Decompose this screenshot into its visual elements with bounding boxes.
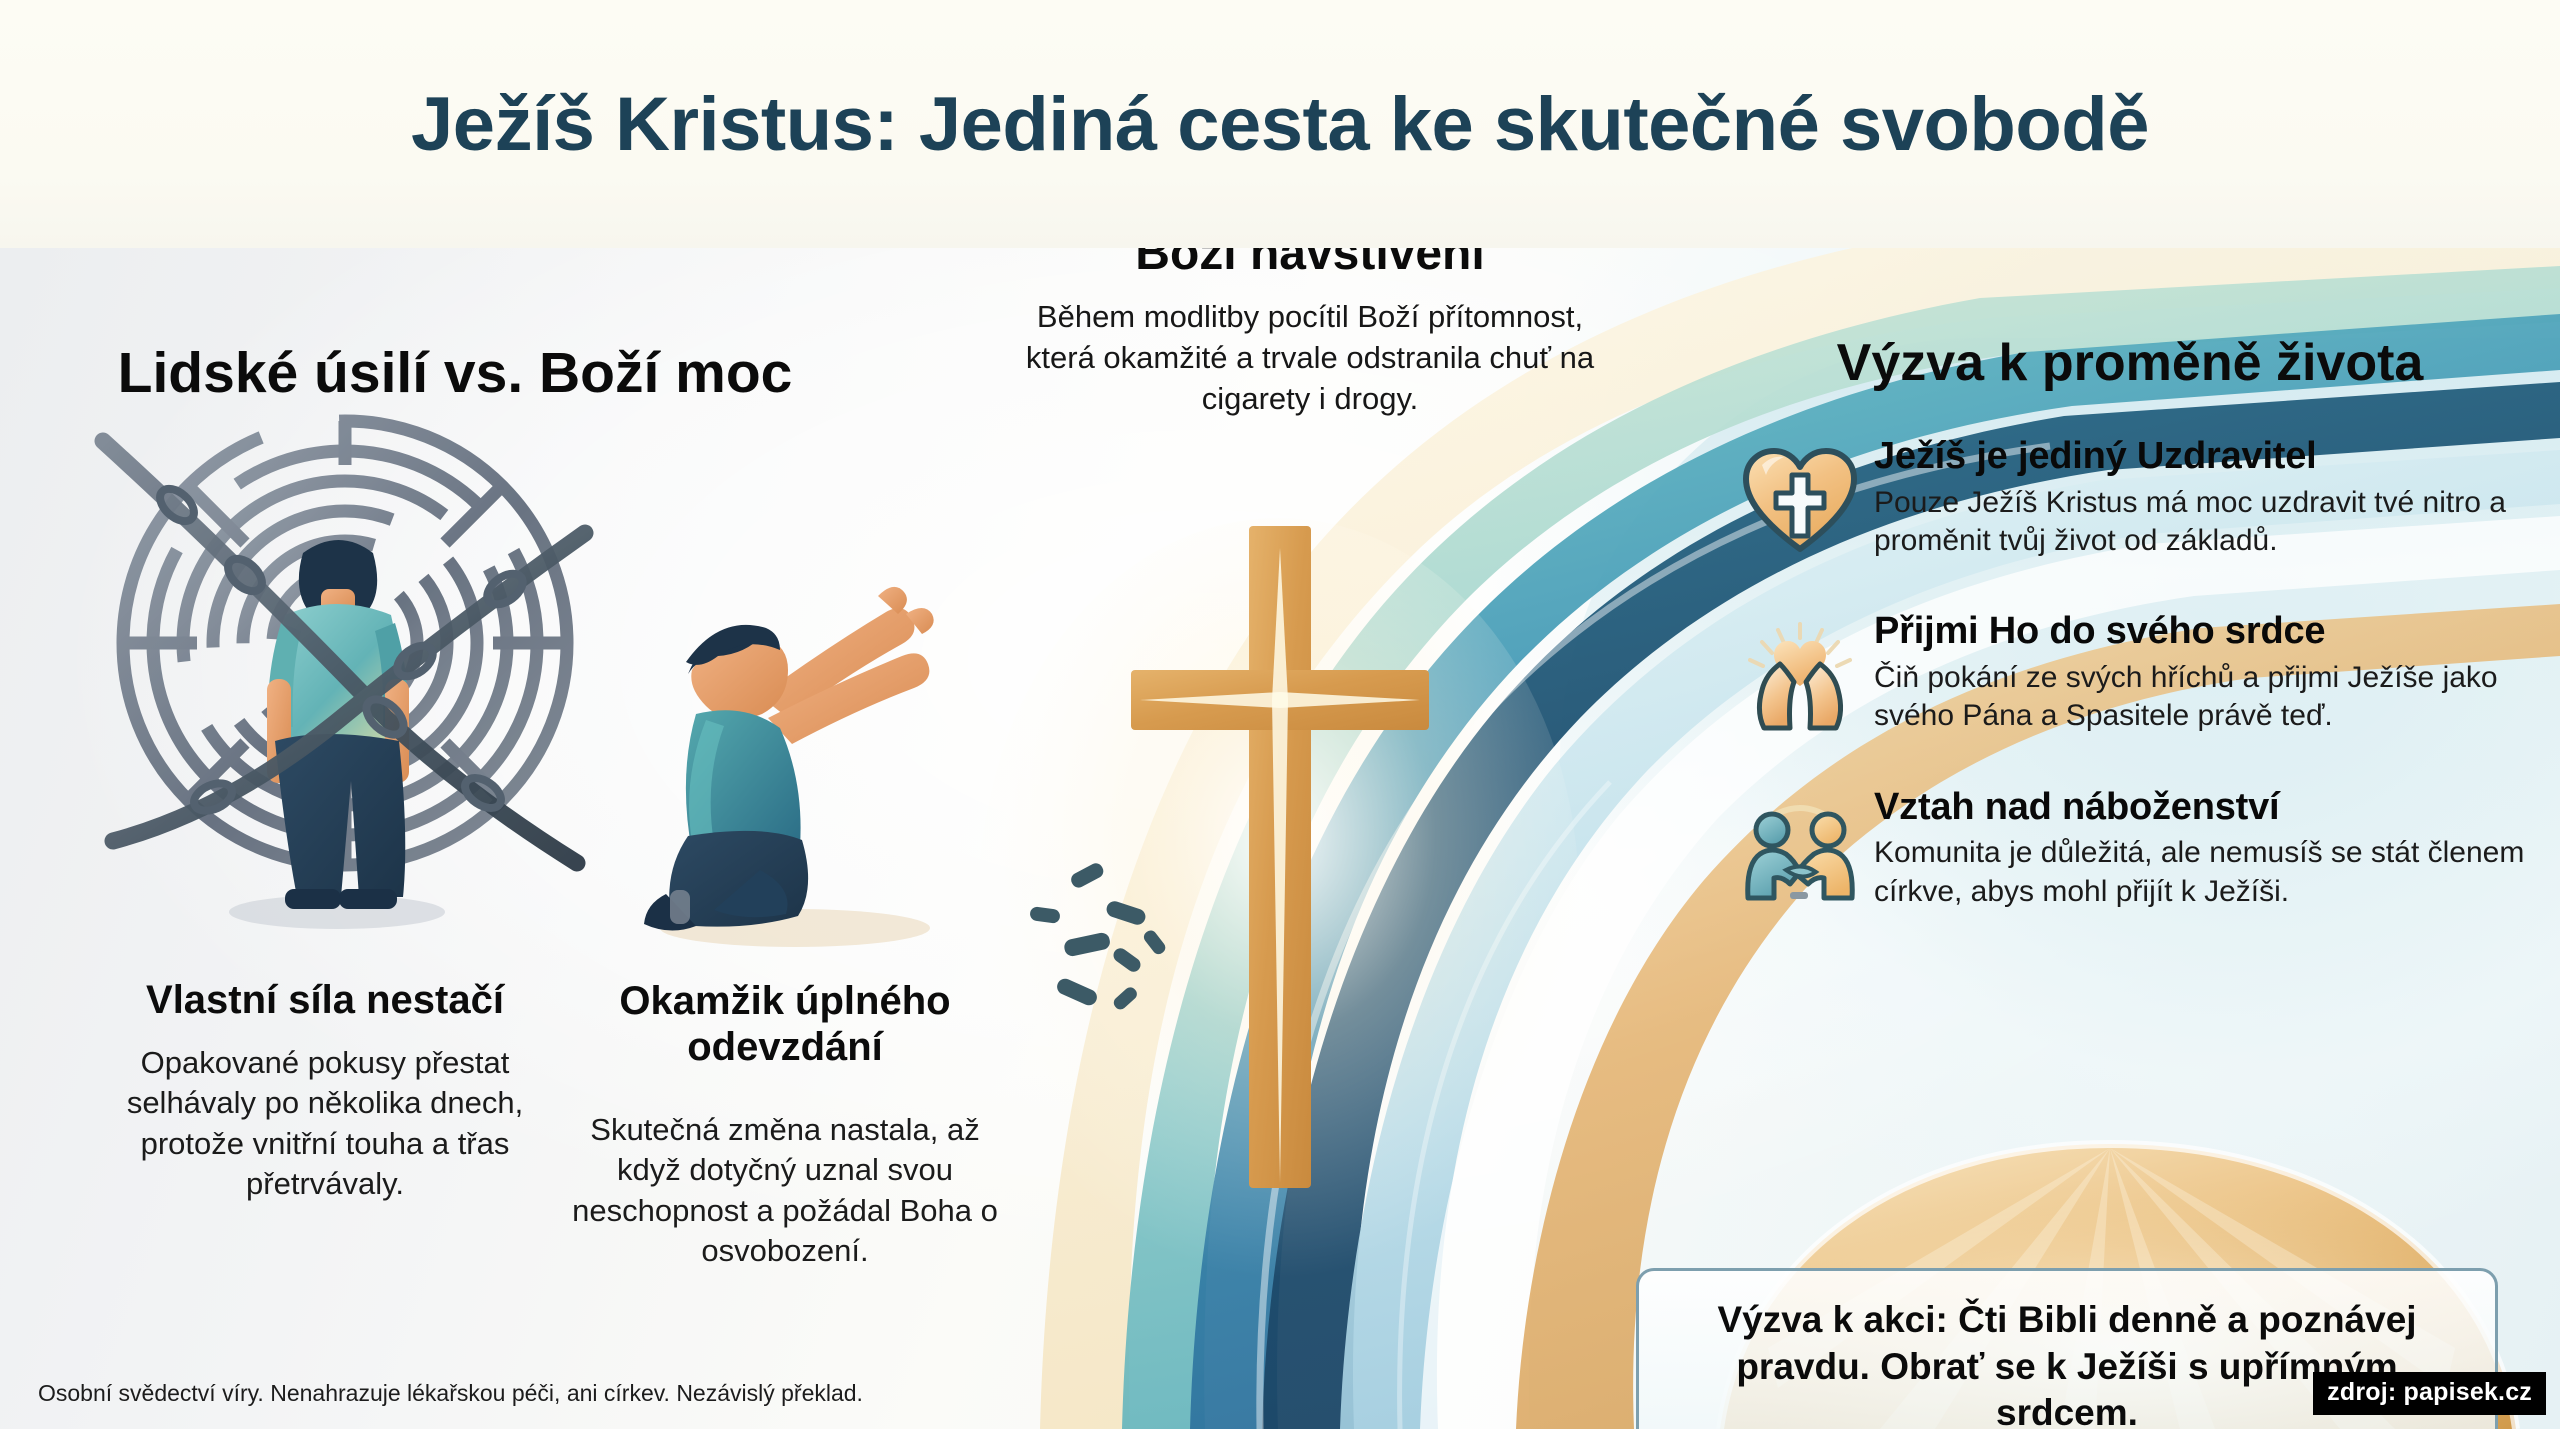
list-item-body: Komunita je důležitá, ale nemusíš se stá… [1874, 834, 2530, 911]
heart-with-cross-icon [1740, 445, 1860, 557]
list-item-body: Pouze Ježíš Kristus má moc uzdravit tvé … [1874, 484, 2530, 561]
main-canvas: Lidské úsilí vs. Boží moc Vlastní síla n… [0, 248, 2560, 1429]
list-item-text: Ježíš je jediný Uzdravitel Pouze Ježíš K… [1874, 433, 2530, 560]
list-item-text: Vztah nad náboženství Komunita je důleži… [1874, 784, 2530, 911]
disclaimer-text: Osobní svědectví víry. Nenahrazuje lékař… [38, 1380, 863, 1407]
middle-panel-body: Během modlitby pocítil Boží přítomnost, … [1010, 296, 1610, 420]
list-item-title: Vztah nad náboženství [1874, 786, 2530, 829]
transformation-list: Ježíš je jediný Uzdravitel Pouze Ježíš K… [1740, 433, 2530, 959]
golden-cross-icon [979, 518, 1579, 1278]
hands-holding-heart-icon [1740, 620, 1860, 732]
source-badge: zdroj: papisek.cz [2313, 1372, 2546, 1415]
left-card-title: Vlastní síla nestačí [75, 978, 575, 1023]
list-item-title: Ježíš je jediný Uzdravitel [1874, 435, 2530, 478]
middle-card-title: Okamžik úplného odevzdání [550, 978, 1020, 1070]
left-panel-heading: Lidské úsilí vs. Boží moc [90, 340, 820, 406]
list-item[interactable]: Přijmi Ho do svého srdce Čiň pokání ze s… [1740, 608, 2530, 735]
page-title: Ježíš Kristus: Jediná cesta ke skutečné … [411, 81, 2149, 168]
header-band: Ježíš Kristus: Jediná cesta ke skutečné … [0, 0, 2560, 248]
right-panel-heading: Výzva k proměně života [1730, 333, 2530, 393]
list-item-text: Přijmi Ho do svého srdce Čiň pokání ze s… [1874, 608, 2530, 735]
two-people-handshake-icon [1740, 796, 1860, 908]
middle-card-body: Skutečná změna nastala, až když dotyčný … [555, 1110, 1015, 1271]
infographic-root: Ježíš Kristus: Jediná cesta ke skutečné … [0, 0, 2560, 1429]
list-item[interactable]: Vztah nad náboženství Komunita je důleži… [1740, 784, 2530, 911]
list-item[interactable]: Ježíš je jediný Uzdravitel Pouze Ježíš K… [1740, 433, 2530, 560]
list-item-title: Přijmi Ho do svého srdce [1874, 610, 2530, 653]
kneeling-man-illustration [610, 578, 1030, 958]
left-card-body: Opakované pokusy přestat selhávaly po ně… [80, 1043, 570, 1204]
middle-panel-heading: Boží navštívení [1000, 248, 1620, 281]
list-item-body: Čiň pokání ze svých hříchů a přijmi Ježí… [1874, 659, 2530, 736]
maze-chained-man-illustration [85, 393, 605, 953]
